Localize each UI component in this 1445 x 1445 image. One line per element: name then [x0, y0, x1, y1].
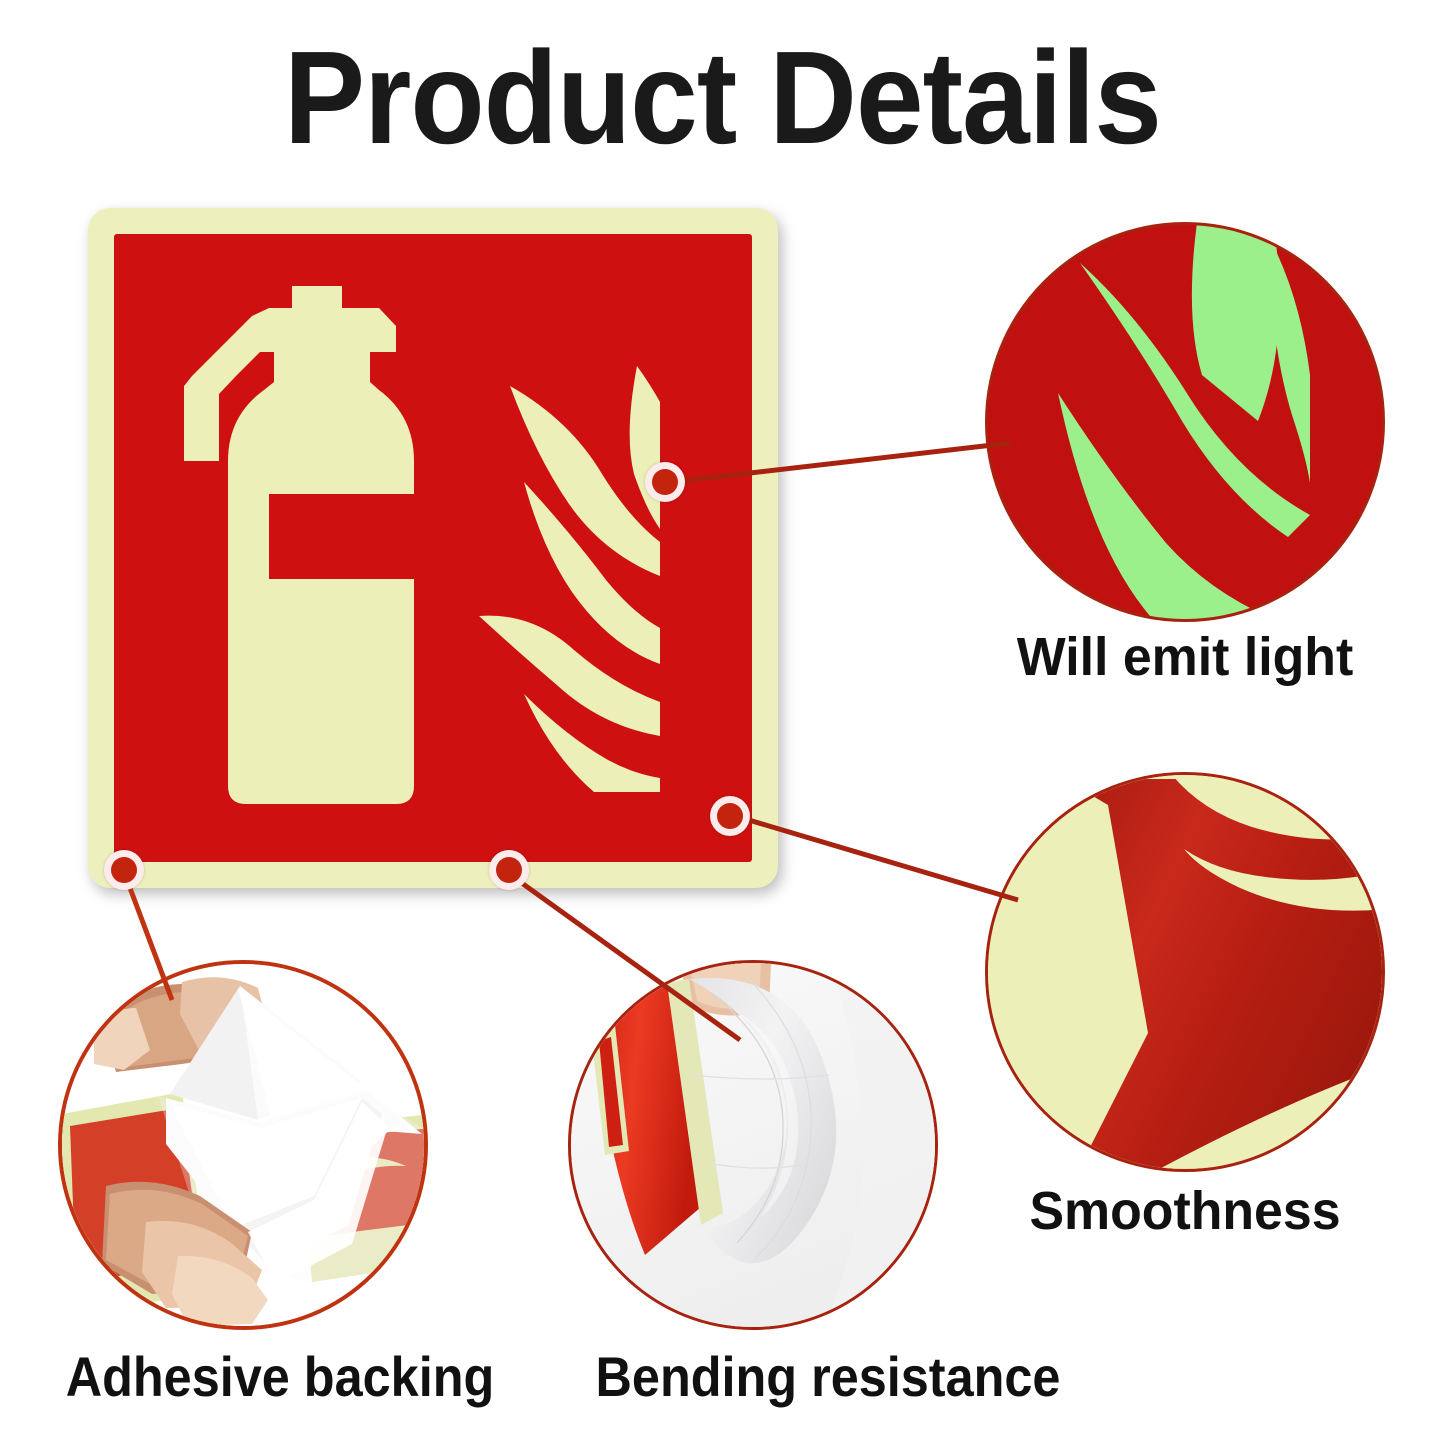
callout-marker-bottom-left[interactable]	[104, 850, 144, 890]
infographic-canvas: Product Details	[0, 0, 1445, 1445]
callout-marker-bottom-middle[interactable]	[489, 850, 529, 890]
callout-connector-lines	[0, 0, 1445, 1445]
callout-marker-flame[interactable]	[645, 462, 685, 502]
callout-marker-bottom-right[interactable]	[710, 796, 750, 836]
